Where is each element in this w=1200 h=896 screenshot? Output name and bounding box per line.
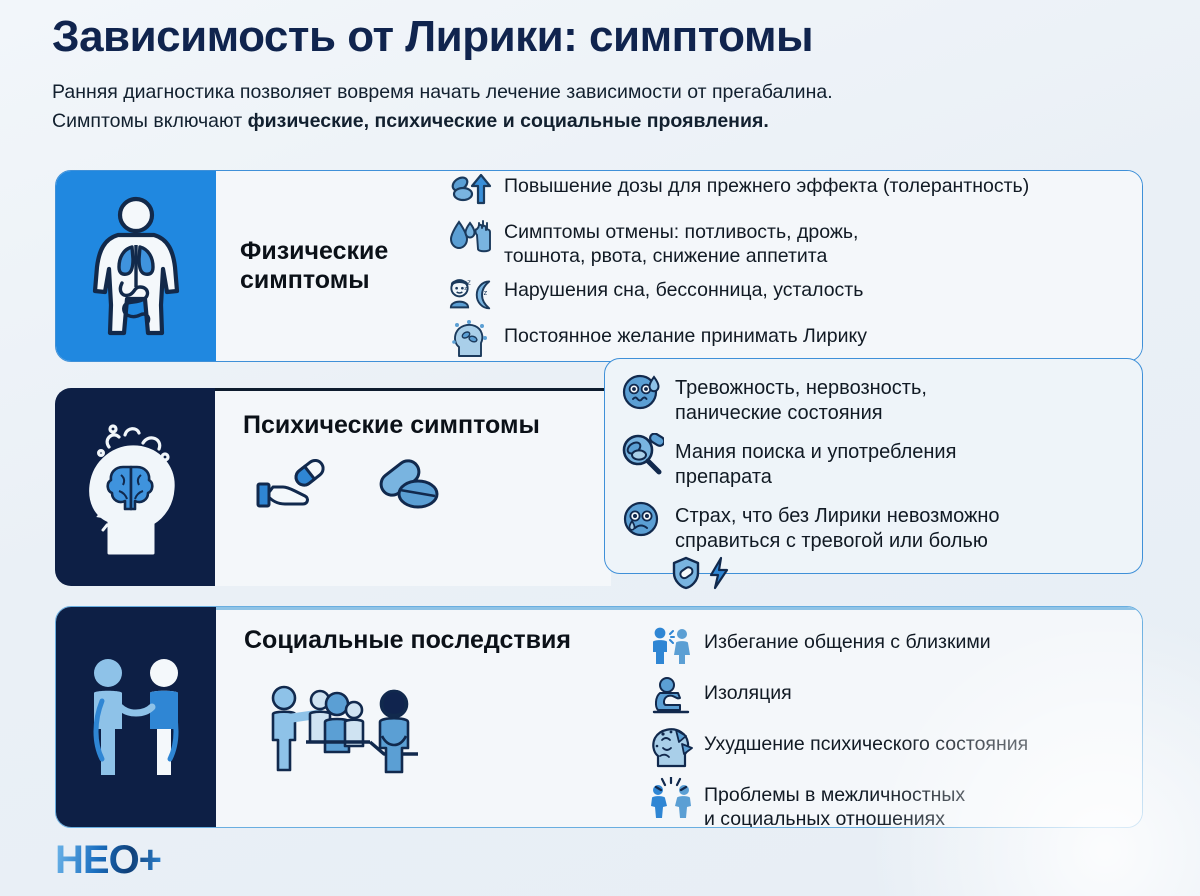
- mental-card-heading: Психические симптомы: [243, 411, 611, 441]
- list-item[interactable]: Постоянное желание принимать Лирику: [448, 318, 1128, 360]
- physical-icon-panel: [56, 171, 216, 361]
- deteriorating-mind-head-icon: [648, 726, 694, 768]
- magnifier-pills-search-icon: [619, 434, 665, 476]
- anxious-sweating-face-icon: [619, 370, 665, 412]
- physical-heading-column: Физические симптомы: [216, 237, 448, 296]
- pills-up-arrow-icon: [448, 170, 494, 210]
- list-item-text: Тревожность, нервозность, панические сос…: [675, 370, 927, 426]
- header: Зависимость от Лирики: симптомы Ранняя д…: [0, 0, 1200, 136]
- sleepless-face-moon-icon: z z z: [448, 272, 494, 314]
- list-item-text: Мания поиска и употребления препарата: [675, 434, 956, 490]
- list-item[interactable]: Повышение дозы для прежнего эффекта (тол…: [448, 170, 1128, 210]
- list-item-text: Повышение дозы для прежнего эффекта (тол…: [504, 170, 1029, 198]
- two-people-connection-icon: [76, 647, 196, 787]
- list-item-text: Постоянное желание принимать Лирику: [504, 318, 867, 348]
- hand-with-capsule-icon: [253, 457, 339, 517]
- human-body-organs-icon: [88, 195, 184, 337]
- craving-head-icon: [448, 318, 494, 360]
- family-isolation-group-icon: [258, 674, 438, 778]
- mental-icon-panel: [55, 388, 215, 586]
- list-item-text: Нарушения сна, бессонница, усталость: [504, 272, 863, 302]
- brand-logo-text: НЕО+: [55, 840, 161, 880]
- social-card-heading: Социальные последствия: [244, 626, 648, 656]
- list-item-text: Изоляция: [704, 675, 792, 705]
- svg-text:z: z: [464, 287, 467, 293]
- list-item[interactable]: Избегание общения с близкими: [648, 624, 1132, 666]
- worried-crying-face-icon: [619, 498, 665, 540]
- subtitle-line-1: Ранняя диагностика позволяет вовремя нач…: [52, 81, 833, 103]
- list-item[interactable]: Изоляция: [648, 675, 1132, 717]
- page-subtitle: Ранняя диагностика позволяет вовремя нач…: [52, 78, 1148, 136]
- subtitle-line-2-bold: физические, психические и социальные про…: [248, 110, 769, 132]
- list-item[interactable]: Тревожность, нервозность, панические сос…: [619, 370, 1128, 426]
- cards-container: Физические симптомы Повышение дозы для: [0, 168, 1200, 832]
- list-item-text: Ухудшение психического состояния: [704, 726, 1028, 756]
- page-title: Зависимость от Лирики: симптомы: [52, 14, 1148, 60]
- brand-logo[interactable]: НЕО+: [55, 840, 161, 880]
- list-item[interactable]: Проблемы в межличностных и социальных от…: [648, 777, 1132, 828]
- list-item-text: Проблемы в межличностных и социальных от…: [704, 777, 965, 828]
- sweat-drops-trembling-hand-icon: [448, 214, 494, 256]
- card-physical-symptoms[interactable]: Физические симптомы Повышение дозы для: [55, 170, 1143, 362]
- list-item[interactable]: Страх, что без Лирики невозможно справит…: [619, 498, 1128, 554]
- shield-pill-icon: [671, 556, 701, 590]
- list-item-text: Страх, что без Лирики невозможно справит…: [675, 498, 1000, 554]
- social-icon-panel: [56, 607, 216, 827]
- social-card-body: Социальные последствия: [216, 607, 1142, 827]
- list-item-text: Симптомы отмены: потливость, дрожь, тошн…: [504, 214, 858, 269]
- social-items-list: Избегание общения с близкими Изоляция: [648, 610, 1142, 827]
- mental-card-body: Психические симптомы: [215, 388, 611, 586]
- list-item-text: Избегание общения с близкими: [704, 624, 991, 654]
- avoiding-people-icon: [648, 624, 694, 666]
- physical-items-list: Повышение дозы для прежнего эффекта (тол…: [448, 170, 1142, 362]
- subtitle-line-2-plain: Симптомы включают: [52, 110, 248, 132]
- card-social-consequences[interactable]: Социальные последствия: [55, 606, 1143, 828]
- head-brain-icon: [79, 417, 191, 557]
- list-item[interactable]: Ухудшение психического состояния: [648, 726, 1132, 768]
- social-left-column: Социальные последствия: [216, 610, 648, 827]
- conflict-people-icon: [648, 777, 694, 819]
- social-group-icon-wrap: [244, 674, 648, 783]
- physical-card-heading: Физические симптомы: [240, 237, 448, 296]
- list-item[interactable]: Мания поиска и употребления препарата: [619, 434, 1128, 490]
- card-mental-symptoms[interactable]: Психические симптомы: [55, 388, 611, 586]
- svg-text:z: z: [467, 278, 471, 287]
- list-item[interactable]: Симптомы отмены: потливость, дрожь, тошн…: [448, 214, 1128, 269]
- lightning-bolt-icon: [707, 556, 731, 590]
- mental-items-panel: Тревожность, нервозность, панические сос…: [604, 358, 1143, 574]
- pills-pair-icon: [373, 457, 447, 517]
- mental-middle-icons: [243, 457, 611, 517]
- physical-card-body: Физические симптомы Повышение дозы для: [216, 171, 1142, 361]
- list-item[interactable]: z z z Нарушения сна, бессонница, усталос…: [448, 272, 1128, 314]
- svg-text:z: z: [483, 288, 487, 297]
- sitting-alone-icon: [648, 675, 694, 717]
- mental-trailing-icons: [619, 556, 1128, 590]
